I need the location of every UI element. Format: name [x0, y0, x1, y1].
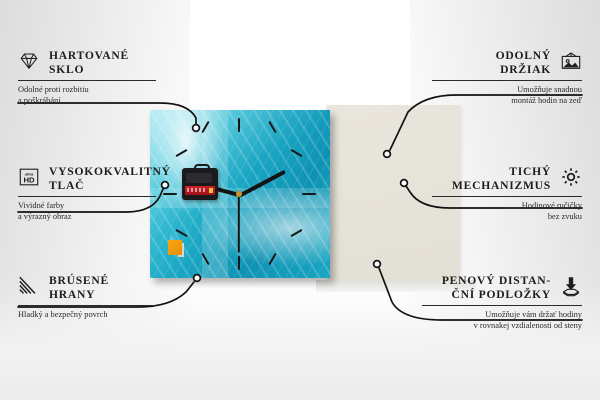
feature-title: BRÚSENÉ HRANY	[49, 274, 109, 301]
divider	[422, 305, 582, 306]
feature-title: ODOLNÝ DRŽIAK	[496, 49, 551, 76]
feature-title: HARTOVANÉ SKLO	[49, 49, 129, 76]
feature-description: Vividné farby a výrazný obraz	[18, 201, 168, 222]
feature-title: VYSOKOKVALITNÝ TLAČ	[49, 165, 171, 192]
bevel-edges-icon	[18, 275, 40, 297]
divider	[432, 196, 582, 197]
feature-description: Hladký a bezpečný povrch	[18, 310, 168, 321]
gear-icon	[560, 166, 582, 188]
infographic-canvas: HARTOVANÉ SKLO Odolné proti rozbitiu a p…	[0, 0, 600, 400]
feature-title: PENOVÝ DISTAN- ČNÍ PODLOŽKY	[442, 274, 551, 301]
divider	[18, 80, 156, 81]
feature-description: Umožňuje vám držať hodiny v rovnakej vzd…	[422, 310, 582, 331]
diamond-icon	[18, 50, 40, 72]
feature-silent-mechanism: TICHÝ MECHANIZMUS Hodinové ručičky bez z…	[432, 165, 582, 222]
connector-dot-6	[374, 261, 381, 268]
feature-description: Odolné proti rozbitiu a poškrábání	[18, 85, 168, 106]
connector-dot-3	[194, 275, 201, 282]
svg-text:HD: HD	[23, 176, 35, 185]
divider	[432, 80, 582, 81]
divider	[18, 196, 156, 197]
feature-description: Umožňuje snadnou montáž hodin na zeď	[432, 85, 582, 106]
feature-hardened-glass: HARTOVANÉ SKLO Odolné proti rozbitiu a p…	[18, 49, 168, 106]
feature-description: Hodinové ručičky bez zvuku	[432, 201, 582, 222]
feature-beveled-edges: BRÚSENÉ HRANY Hladký a bezpečný povrch	[18, 274, 168, 321]
feature-high-quality-print: ultra HD VYSOKOKVALITNÝ TLAČ Vividné far…	[18, 165, 168, 222]
divider	[18, 305, 156, 306]
connector-dot-4	[384, 151, 391, 158]
connector-dot-1	[193, 125, 200, 132]
foam-spacer-icon	[560, 275, 582, 297]
feature-durable-hanger: ODOLNÝ DRŽIAK Umožňuje snadnou montáž ho…	[432, 49, 582, 106]
picture-frame-icon	[560, 50, 582, 72]
feature-foam-spacers: PENOVÝ DISTAN- ČNÍ PODLOŽKY Umožňuje vám…	[422, 274, 582, 331]
feature-title: TICHÝ MECHANIZMUS	[452, 165, 551, 192]
connector-dot-5	[401, 180, 408, 187]
ultra-hd-icon: ultra HD	[18, 166, 40, 188]
